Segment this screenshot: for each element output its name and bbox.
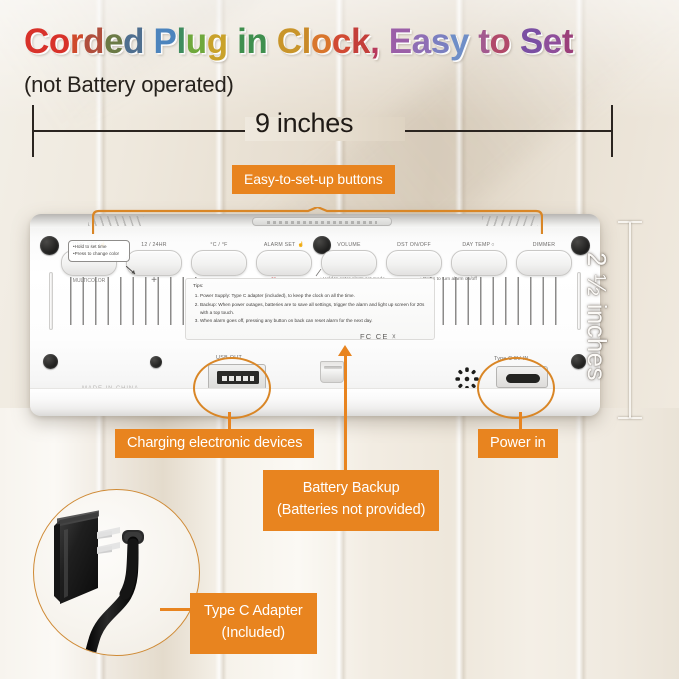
title-letter: S <box>520 22 543 61</box>
screw-bottom-middle <box>150 356 162 368</box>
title-letter: t <box>478 22 489 61</box>
title-letter: C <box>277 22 302 61</box>
title-letter: o <box>490 22 511 61</box>
clock-button-cap[interactable] <box>451 250 507 276</box>
tooltip-line-2: •Press to change color <box>73 251 126 258</box>
tips-panel: Tips: Power Supply: Type C adapter (incl… <box>185 278 435 340</box>
clock-button-label: DIMMER <box>513 242 575 248</box>
title-letter: P <box>153 22 176 61</box>
title-letter: r <box>70 22 83 61</box>
hand-press-icon: ☝ <box>297 242 304 248</box>
alarm-hint-pointer-icon <box>314 269 322 277</box>
speaker-vent-right <box>430 277 560 325</box>
tips-list: Power Supply: Type C adapter (included),… <box>200 292 428 324</box>
title-letter: y <box>450 22 469 61</box>
title-letter: l <box>176 22 185 61</box>
clock-button-volume[interactable]: VOLUME <box>318 242 380 278</box>
dimension-height-label: 2 ½ inches <box>581 252 612 381</box>
clock-button-cap[interactable] <box>321 250 377 276</box>
callout-battery-line-1: Battery Backup <box>277 477 425 499</box>
callout-charging-devices: Charging electronic devices <box>115 429 314 458</box>
callout-type-c-adapter: Type C Adapter (Included) <box>190 593 317 654</box>
callout-power-in: Power in <box>478 429 558 458</box>
title-letter: n <box>246 22 267 61</box>
weee-icon: ☓ <box>392 332 397 341</box>
screw-top-left <box>40 236 59 255</box>
title-letter: , <box>370 22 379 61</box>
title-letter: g <box>207 22 228 61</box>
title-letter: d <box>83 22 104 61</box>
adapter-callout-connector <box>160 608 194 611</box>
title-letter <box>510 22 519 61</box>
callout-adapter-line-1: Type C Adapter <box>204 600 303 622</box>
callout-battery-line-2: (Batteries not provided) <box>277 499 425 521</box>
title-letter: k <box>351 22 370 61</box>
clock-button-cap[interactable] <box>191 250 247 276</box>
title-letter: e <box>543 22 562 61</box>
title-letter: i <box>237 22 246 61</box>
title-letter: c <box>332 22 351 61</box>
title-letter: E <box>389 22 412 61</box>
title-letter: a <box>412 22 431 61</box>
battery-callout-arrow-icon <box>338 345 352 356</box>
title-letter: u <box>186 22 207 61</box>
speaker-vent-left <box>70 277 200 325</box>
tips-item: Backup: When power outages, batteries ar… <box>200 301 428 316</box>
multicolor-tooltip: •Hold to set time •Press to change color <box>68 240 130 262</box>
clock-button-label: ALARM SET☝ <box>253 242 315 248</box>
callout-adapter-line-2: (Included) <box>204 622 303 644</box>
title-letter: s <box>431 22 450 61</box>
clock-button-cap[interactable] <box>256 250 312 276</box>
title-letter: e <box>104 22 123 61</box>
title-letter: t <box>562 22 573 61</box>
usb-port-highlight-ring <box>193 357 271 419</box>
vent-rail-left <box>49 272 53 330</box>
clock-button-label: VOLUME <box>318 242 380 248</box>
clock-button-label: DAY TEMP○ <box>448 242 510 248</box>
buttons-bracket <box>92 207 543 235</box>
tips-item: Power Supply: Type C adapter (included),… <box>200 292 428 300</box>
clock-button-dimmer[interactable]: DIMMER <box>513 242 575 278</box>
tips-item: When alarm goes off, pressing any button… <box>200 317 428 325</box>
title-letter <box>379 22 388 61</box>
adapter-photo-circle <box>33 489 200 656</box>
title-letter: C <box>24 22 49 61</box>
clock-button-day-temp[interactable]: DAY TEMP○ <box>448 242 510 278</box>
ce-icon: CE <box>376 332 389 341</box>
clock-button-cap[interactable] <box>516 250 572 276</box>
certification-marks: FC CE ☓ <box>360 332 397 341</box>
screw-bottom-left <box>43 354 58 369</box>
clock-button-dst-on-off[interactable]: DST ON/OFF <box>383 242 445 278</box>
tooltip-arrow-icon <box>126 266 138 276</box>
tooltip-line-1: •Hold to set time <box>73 244 126 251</box>
clock-button-cap[interactable] <box>386 250 442 276</box>
title-letter: l <box>302 22 311 61</box>
clock-button-label: °C / °F <box>188 242 250 248</box>
type-c-adapter-image <box>34 490 200 656</box>
battery-compartment-latch[interactable] <box>320 361 344 383</box>
page-subtitle: (not Battery operated) <box>24 72 234 98</box>
title-letter <box>469 22 478 61</box>
title-letter: o <box>49 22 70 61</box>
title-letter <box>228 22 237 61</box>
tips-heading: Tips: <box>193 283 428 291</box>
clock-button-label: DST ON/OFF <box>383 242 445 248</box>
clock-button-label: 12 / 24HR <box>123 242 185 248</box>
dimension-width-label: 9 inches <box>247 108 361 139</box>
page-title: Corded Plug in Clock, Easy to Set <box>24 22 573 62</box>
fcc-icon: FC <box>360 332 372 341</box>
title-letter <box>267 22 276 61</box>
battery-callout-connector <box>344 352 347 470</box>
title-letter: o <box>311 22 332 61</box>
title-letter: d <box>123 22 144 61</box>
type-c-port-highlight-ring <box>477 357 555 419</box>
clock-small-icon: ○ <box>491 242 494 248</box>
callout-easy-setup-buttons: Easy-to-set-up buttons <box>232 165 395 194</box>
callout-battery-backup: Battery Backup (Batteries not provided) <box>263 470 439 531</box>
dimension-line-vertical <box>629 222 631 418</box>
